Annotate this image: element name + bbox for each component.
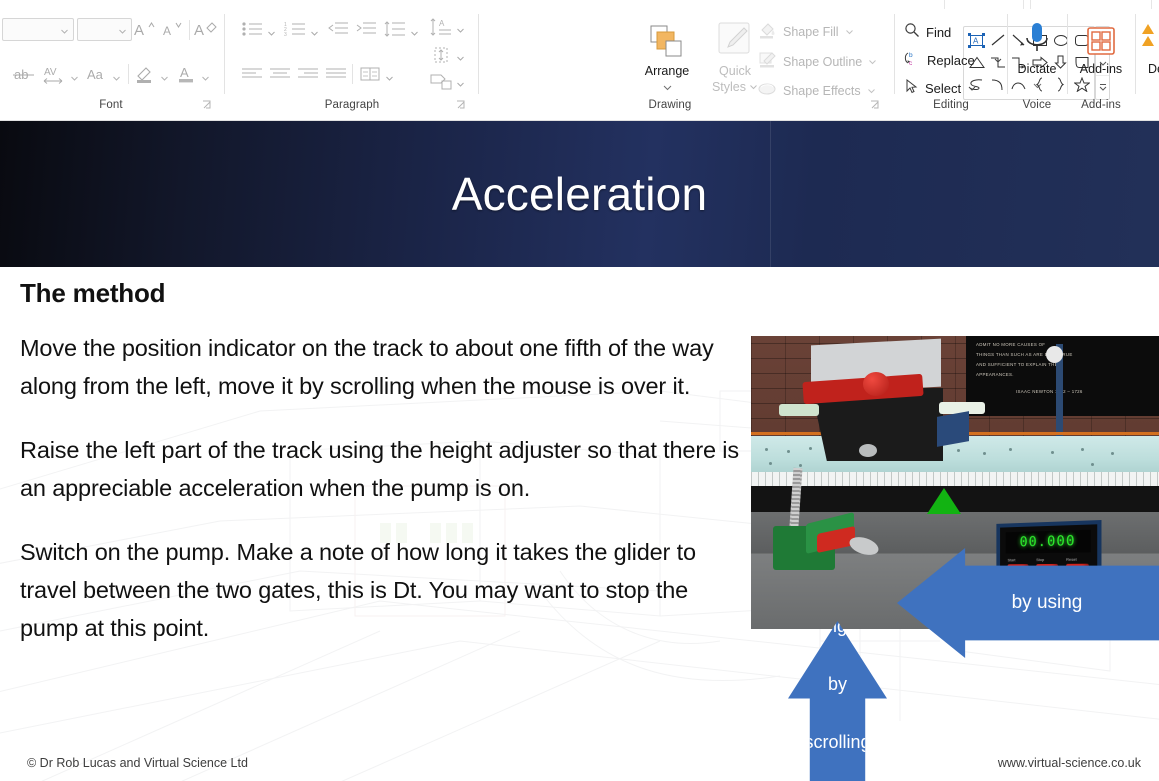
body-paragraph-2: Raise the left part of the track using t… [20,431,748,507]
arrange-button[interactable]: Arrange [635,16,699,97]
svg-text:c: c [909,60,913,66]
font-dialog-launcher-icon[interactable] [202,100,212,110]
chevron-down-icon[interactable] [201,70,210,88]
slide-footer-copyright: © Dr Rob Lucas and Virtual Science Ltd [27,756,248,770]
replace-icon: b c [904,50,921,71]
timer-button-label-2: Stop [1036,557,1044,562]
columns-icon[interactable] [358,63,382,85]
bullets-icon[interactable] [240,18,264,40]
chevron-down-icon[interactable] [1005,77,1069,95]
find-label: Find [926,25,951,40]
arrange-label: Arrange [635,64,699,78]
body-paragraph-1: Move the position indicator on the track… [20,329,748,405]
align-right-icon[interactable] [296,63,320,85]
blue-block [937,411,969,447]
font-name-combo[interactable] [2,18,74,41]
find-button[interactable]: Find [904,22,951,43]
strikethrough-icon[interactable]: ab [12,63,36,85]
svg-text:Aa: Aa [87,67,104,82]
shape-outline-label: Shape Outline [783,55,862,69]
replace-label: Replace [927,53,975,68]
callout-adjust-line-4: scrolling [804,729,870,761]
svg-text:A: A [180,65,189,80]
ribbon-group-addins: Add-ins Add-ins [1069,8,1133,120]
shape-fill-button[interactable]: Shape Fill [758,22,888,42]
powerpoint-window: A A A ab [0,0,1159,781]
svg-text:3: 3 [284,32,287,37]
replace-button[interactable]: b c Replace [904,50,1003,71]
glider-nub [859,444,877,457]
group-label-voice: Voice [1009,99,1065,111]
paragraph-dialog-launcher-icon[interactable] [456,100,466,110]
addins-button[interactable]: Add-ins [1069,14,1133,76]
callout-adjust-line-3: by [804,671,870,703]
dictate-label: Dictate [1005,62,1069,76]
select-label: Select [925,81,961,96]
line-spacing-icon[interactable] [383,18,407,40]
addins-label: Add-ins [1069,62,1133,76]
drawing-dialog-launcher-icon[interactable] [870,100,880,110]
ribbon-group-font: A A A ab [0,8,222,120]
board-line-3: AND SUFFICIENT TO EXPLAIN THEIR [976,362,1063,367]
board-line-5: ISAAC NEWTON 1642 – 1726 [1016,389,1083,394]
convert-to-smartart-icon[interactable] [428,70,454,92]
font-size-combo[interactable] [77,18,132,41]
arrange-icon [635,16,699,62]
clear-formatting-icon[interactable]: A [194,18,218,40]
board-line-1: ADMIT NO MORE CAUSES OF [976,342,1045,347]
align-left-icon[interactable] [240,63,264,85]
glider-left-vane [779,404,819,416]
slide-body-text[interactable]: Move the position indicator on the track… [20,329,748,673]
chevron-down-icon[interactable] [749,80,758,94]
photogate-sensor-ball [1046,346,1063,363]
shape-effects-label: Shape Effects [783,84,861,98]
chevron-down-icon [60,23,69,32]
timer-button-label-3: Reset [1066,557,1077,562]
microphone-icon [1005,14,1069,60]
ribbon-group-truncated: De [1137,8,1159,120]
ribbon-group-drawing: A [480,8,892,120]
ribbon-group-paragraph: 1 2 3 [228,8,476,120]
callout-note-line-2: by using [949,590,1159,617]
group-label-drawing: Drawing [610,99,730,111]
timer-button-label-1: Start [1008,557,1016,562]
chevron-down-icon[interactable] [845,23,854,41]
chevron-down-icon[interactable] [160,70,169,88]
timer-display: 00.000 [1006,530,1091,554]
chevron-down-icon[interactable] [310,25,319,43]
dictate-button[interactable]: Dictate [1005,14,1069,95]
chevron-down-icon[interactable] [868,53,877,71]
chevron-down-icon[interactable] [385,70,394,88]
chevron-down-icon[interactable] [967,80,977,98]
track-scale [751,472,1159,486]
group-label-font: Font [0,99,222,111]
chevron-down-icon[interactable] [456,50,465,68]
align-center-icon[interactable] [268,63,292,85]
numbering-icon[interactable]: 1 2 3 [283,18,307,40]
green-position-marker[interactable] [927,488,961,514]
board-line-4: APPEARANCES. [976,372,1014,377]
ribbon-tab-strip [0,0,1159,8]
ribbon-group-voice: Dictate Voice [1009,8,1065,120]
chevron-down-icon[interactable] [635,79,699,97]
character-spacing-icon[interactable]: AV [42,63,68,85]
increase-font-size-icon[interactable]: A [133,18,157,40]
designer-icon [1133,14,1159,60]
chevron-down-icon[interactable] [867,82,876,100]
body-paragraph-3: Switch on the pump. Make a note of how l… [20,533,748,647]
svg-text:A: A [439,19,445,28]
search-icon [904,22,920,43]
chevron-down-icon [118,23,127,32]
align-text-icon[interactable] [428,44,454,66]
chevron-down-icon[interactable] [267,25,276,43]
increase-indent-icon[interactable] [354,18,378,40]
designer-label: De [1133,62,1159,76]
group-label-editing: Editing [896,99,1006,111]
decrease-font-size-icon[interactable]: A [161,18,185,40]
svg-text:AV: AV [44,67,57,78]
chevron-down-icon[interactable] [993,52,1003,70]
slide-title: Acceleration [0,121,1159,267]
text-direction-icon[interactable]: A [428,16,454,38]
decrease-indent-icon[interactable] [326,18,350,40]
chevron-down-icon[interactable] [112,70,121,88]
svg-text:b: b [909,52,913,59]
chevron-down-icon[interactable] [70,70,79,88]
chevron-down-icon[interactable] [456,22,465,40]
glider-red-knob [863,372,889,396]
chevron-down-icon[interactable] [410,25,419,43]
designer-button[interactable]: De [1133,14,1159,76]
svg-text:A: A [163,24,171,38]
justify-icon[interactable] [324,63,348,85]
font-color-icon[interactable]: A [176,62,198,86]
shape-effects-icon [758,81,777,102]
text-highlight-color-icon[interactable] [134,62,158,86]
select-button[interactable]: Select [904,78,977,99]
addins-icon [1069,14,1133,60]
svg-text:A: A [134,22,144,38]
svg-text:A: A [194,22,204,38]
shape-effects-button[interactable]: Shape Effects [758,81,903,101]
section-heading: The method [20,278,165,309]
group-label-paragraph: Paragraph [228,99,476,111]
shape-fill-label: Shape Fill [783,25,839,39]
chevron-down-icon[interactable] [456,76,465,94]
cursor-arrow-icon [904,78,919,99]
ribbon: A A A ab [0,0,1159,121]
group-label-addins: Add-ins [1069,99,1133,111]
shape-fill-icon [758,21,777,44]
slide-canvas[interactable]: Acceleration The method Move the positio… [0,121,1159,781]
slide-footer-website: www.virtual-science.co.uk [998,756,1141,770]
shape-outline-button[interactable]: Shape Outline [758,52,903,72]
shape-outline-icon [758,51,777,74]
quick-styles-label-line2: Styles [712,80,746,94]
change-case-icon[interactable]: Aa [85,63,111,85]
ribbon-group-editing: Find b c Replace Sele [896,8,1006,120]
